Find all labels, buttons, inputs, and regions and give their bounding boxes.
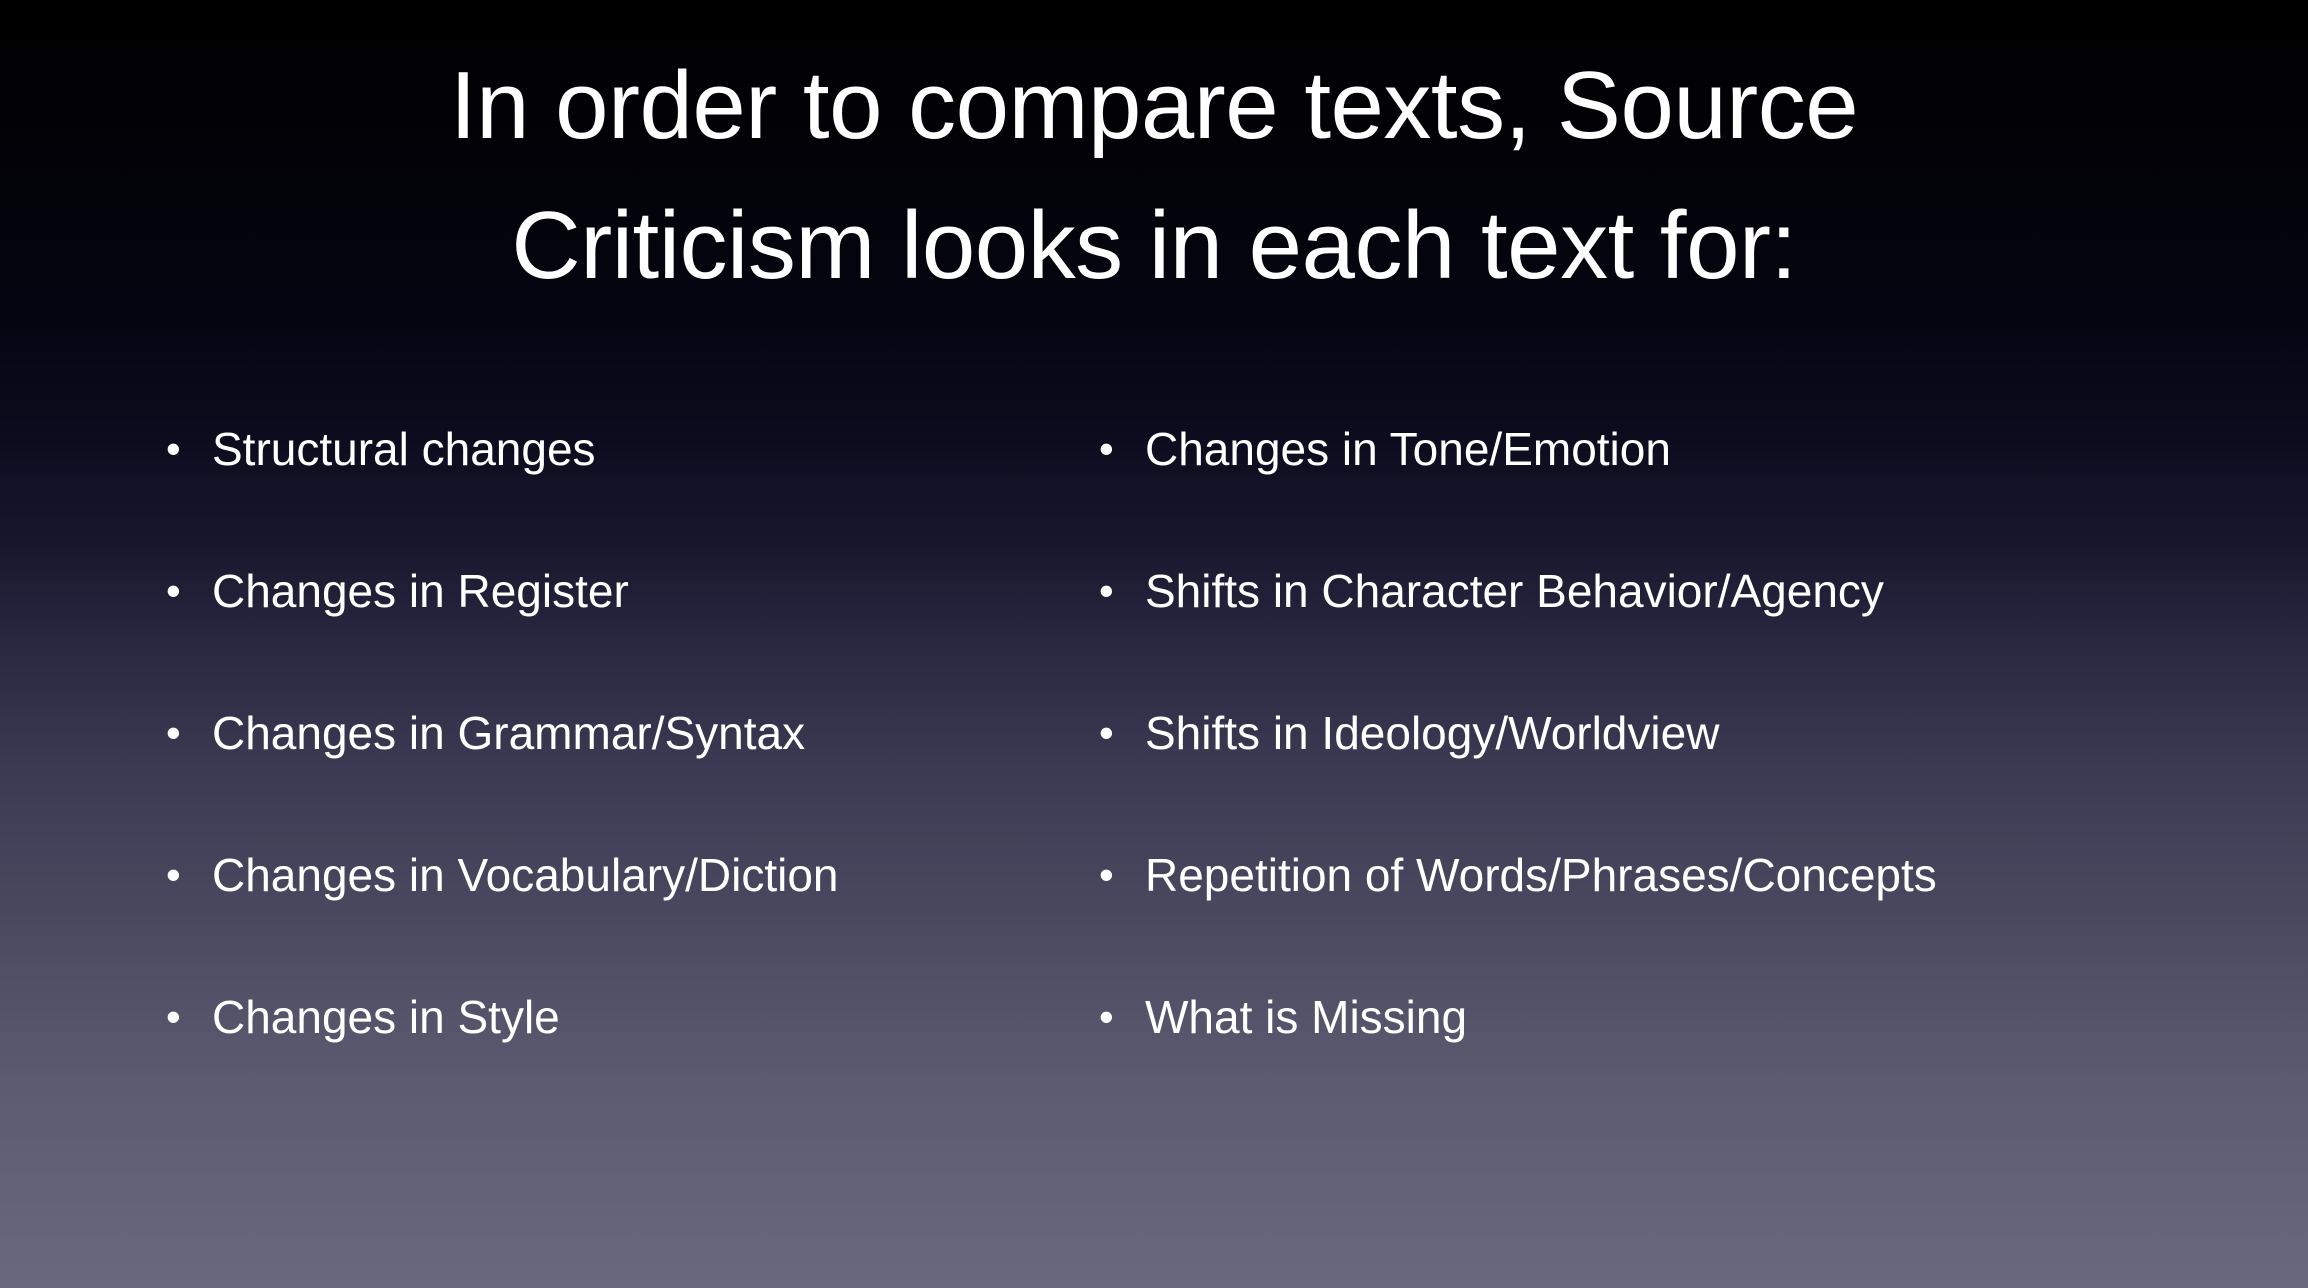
bullet-point-icon: •: [160, 418, 212, 480]
bullet-label: Repetition of Words/Phrases/Concepts: [1145, 844, 2253, 906]
bullet-point-icon: •: [1093, 702, 1145, 764]
list-item: • Changes in Register: [160, 560, 1100, 702]
bullet-columns: • Structural changes • Changes in Regist…: [0, 418, 2308, 1178]
bullet-point-icon: •: [1093, 560, 1145, 622]
bullet-label: Changes in Register: [212, 560, 1100, 622]
bullet-point-icon: •: [1093, 986, 1145, 1048]
list-item: • Changes in Style: [160, 986, 1100, 1128]
bullet-point-icon: •: [1093, 418, 1145, 480]
list-item: • Changes in Grammar/Syntax: [160, 702, 1100, 844]
title-line-1: In order to compare texts, Source: [120, 36, 2188, 176]
list-item: • What is Missing: [1093, 986, 2253, 1128]
list-item: • Changes in Vocabulary/Diction: [160, 844, 1100, 986]
list-item: • Structural changes: [160, 418, 1100, 560]
bullet-label: Structural changes: [212, 418, 1100, 480]
list-item: • Changes in Tone/Emotion: [1093, 418, 2253, 560]
list-item: • Shifts in Ideology/Worldview: [1093, 702, 2253, 844]
list-item: • Repetition of Words/Phrases/Concepts: [1093, 844, 2253, 986]
slide-title: In order to compare texts, Source Critic…: [0, 36, 2308, 316]
bullet-label: Shifts in Character Behavior/Agency: [1145, 560, 2253, 622]
presentation-slide: In order to compare texts, Source Critic…: [0, 0, 2308, 1288]
bullet-point-icon: •: [1093, 844, 1145, 906]
bullet-column-left: • Structural changes • Changes in Regist…: [160, 418, 1100, 1128]
bullet-label: Changes in Style: [212, 986, 1100, 1048]
list-item: • Shifts in Character Behavior/Agency: [1093, 560, 2253, 702]
title-line-2: Criticism looks in each text for:: [120, 176, 2188, 316]
bullet-point-icon: •: [160, 560, 212, 622]
bullet-label: Changes in Vocabulary/Diction: [212, 844, 1100, 906]
bullet-label: Shifts in Ideology/Worldview: [1145, 702, 2253, 764]
bullet-column-right: • Changes in Tone/Emotion • Shifts in Ch…: [1093, 418, 2253, 1128]
bullet-label: Changes in Tone/Emotion: [1145, 418, 2253, 480]
bullet-point-icon: •: [160, 702, 212, 764]
bullet-point-icon: •: [160, 844, 212, 906]
bullet-point-icon: •: [160, 986, 212, 1048]
bullet-label: Changes in Grammar/Syntax: [212, 702, 1100, 764]
bullet-label: What is Missing: [1145, 986, 2253, 1048]
